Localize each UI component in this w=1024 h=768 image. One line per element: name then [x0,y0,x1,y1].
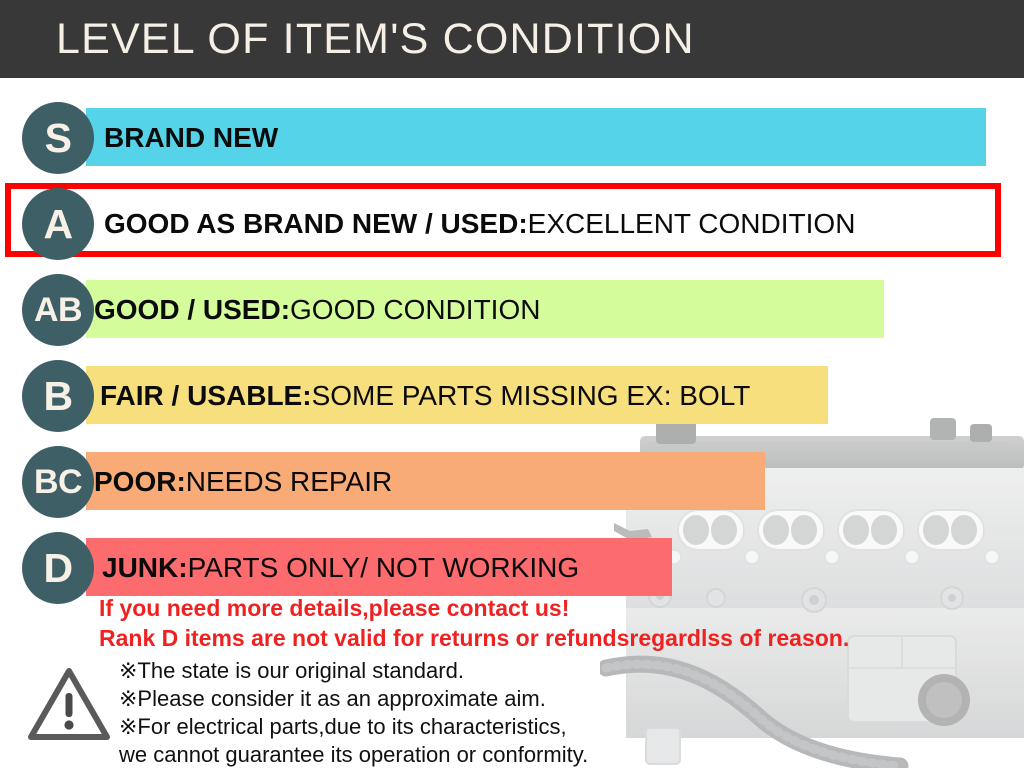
warning-triangle-icon [27,665,111,743]
rank-detail-bc: NEEDS REPAIR [186,466,392,498]
rank-label-a: GOOD AS BRAND NEW / USED: [104,208,528,240]
rank-text-a: GOOD AS BRAND NEW / USED: EXCELLENT COND… [104,186,855,262]
rank-label-bc: POOR: [94,466,186,498]
condition-level-infographic: LEVEL OF ITEM'S CONDITION S BRAND NEW A … [0,0,1024,768]
note-line-1: ※The state is our original standard. [119,657,588,685]
notice-rank-d-no-returns: Rank D items are not valid for returns o… [99,625,849,652]
rank-label-d: JUNK: [102,552,188,584]
rank-badge-a: A [22,188,94,260]
rank-text-s: BRAND NEW [104,100,278,176]
page-title: LEVEL OF ITEM'S CONDITION [56,11,695,67]
rank-badge-bc: BC [22,446,94,518]
rank-text-ab: GOOD / USED: GOOD CONDITION [94,272,540,348]
rank-badge-ab: AB [22,274,94,346]
notes-block: ※The state is our original standard. ※Pl… [119,657,588,768]
rank-detail-a: EXCELLENT CONDITION [528,208,856,240]
notice-contact-us: If you need more details,please contact … [99,595,569,622]
rank-detail-ab: GOOD CONDITION [290,294,540,326]
note-line-2: ※Please consider it as an approximate ai… [119,685,588,713]
rank-detail-b: SOME PARTS MISSING EX: BOLT [312,380,751,412]
rank-badge-b: B [22,360,94,432]
rank-badge-d: D [22,532,94,604]
rank-label-b: FAIR / USABLE: [100,380,312,412]
rank-text-b: FAIR / USABLE: SOME PARTS MISSING EX: BO… [100,358,750,434]
note-line-3: ※For electrical parts,due to its charact… [119,713,588,741]
rank-detail-d: PARTS ONLY/ NOT WORKING [188,552,580,584]
rank-label-ab: GOOD / USED: [94,294,290,326]
note-line-4: we cannot guarantee its operation or con… [119,741,588,768]
rank-text-bc: POOR: NEEDS REPAIR [94,444,392,520]
rank-label-s: BRAND NEW [104,122,278,154]
rank-badge-s: S [22,102,94,174]
